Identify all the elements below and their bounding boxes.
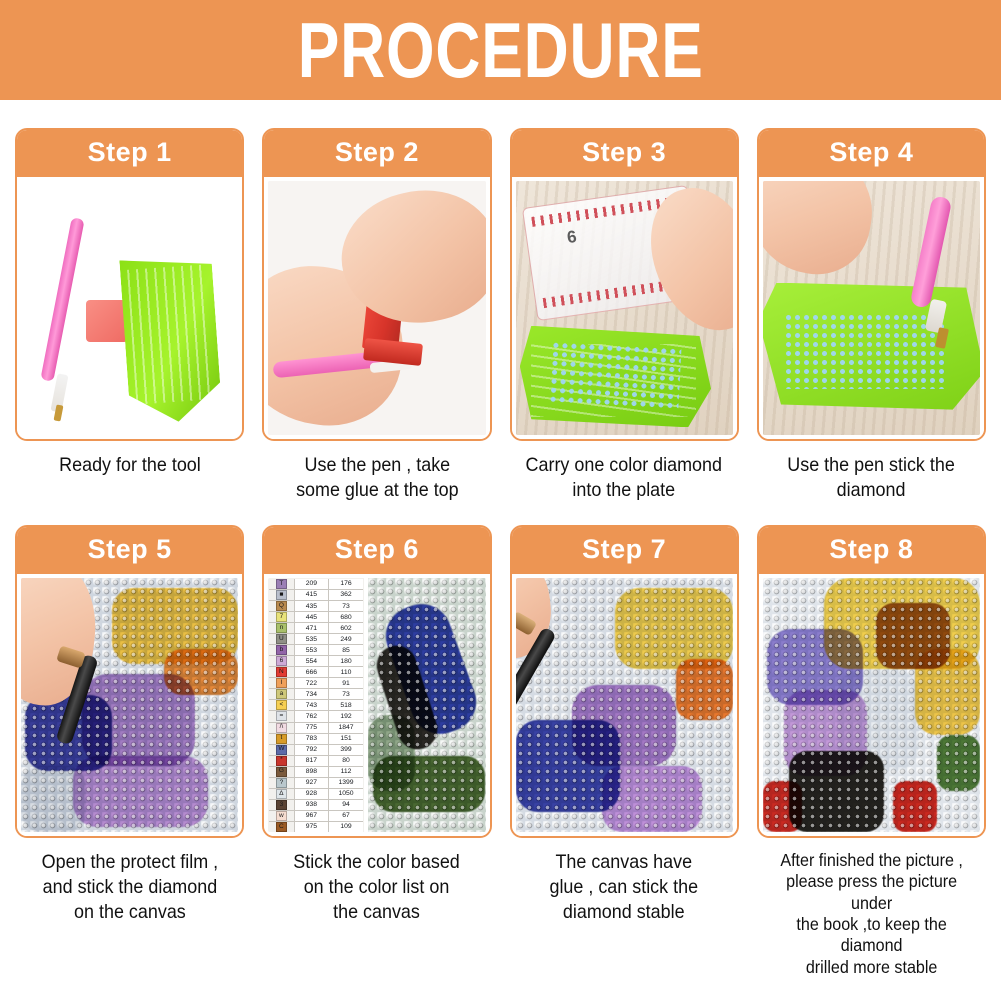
color-code-cell: 898 bbox=[295, 767, 330, 777]
color-list-row: 6554180 bbox=[269, 656, 363, 667]
mosaic-region-lilac bbox=[602, 766, 702, 832]
color-symbol-swatch: b bbox=[276, 645, 287, 655]
step-5-photo bbox=[21, 578, 238, 832]
color-symbol-cell: < bbox=[269, 700, 294, 710]
color-code-cell: 209 bbox=[295, 579, 330, 589]
step-1-body bbox=[17, 177, 242, 439]
mosaic-region-red bbox=[763, 781, 802, 832]
step-8-header: Step 8 bbox=[759, 527, 984, 574]
step-4-body bbox=[759, 177, 984, 439]
color-count-cell: 1399 bbox=[329, 778, 363, 788]
color-symbol-cell: a bbox=[269, 689, 294, 699]
color-symbol-cell: T bbox=[269, 579, 294, 589]
color-code-cell: 554 bbox=[295, 656, 330, 666]
color-symbol-swatch: /\ bbox=[276, 723, 287, 733]
step-4-card: Step 4 bbox=[757, 128, 986, 441]
color-code-cell: 435 bbox=[295, 601, 330, 611]
color-symbol-swatch: 7 bbox=[276, 612, 287, 622]
color-code-cell: 734 bbox=[295, 689, 330, 699]
color-list-row: 7445680 bbox=[269, 612, 363, 623]
color-count-cell: 249 bbox=[329, 634, 363, 644]
color-code-cell: 967 bbox=[295, 811, 330, 821]
color-count-cell: 192 bbox=[329, 711, 363, 721]
color-count-cell: 73 bbox=[329, 689, 363, 699]
mosaic-region-yellow-right bbox=[915, 649, 980, 735]
color-symbol-swatch: = bbox=[276, 711, 287, 721]
color-symbol-swatch: * bbox=[276, 756, 287, 766]
step-7-body bbox=[512, 574, 737, 836]
steps-row-2: Step 5 bbox=[0, 503, 1001, 978]
color-count-cell: 176 bbox=[329, 579, 363, 589]
mosaic-region-dark-foliage bbox=[789, 751, 885, 832]
color-symbol-swatch: w bbox=[276, 811, 287, 821]
color-list-row: ∆9281050 bbox=[269, 789, 363, 800]
color-symbol-cell: Q bbox=[269, 601, 294, 611]
step-6-body: T209176■415362Q435737445680n471602U53524… bbox=[264, 574, 489, 836]
step-3-card: Step 3 6 bbox=[510, 128, 739, 441]
color-count-cell: 91 bbox=[329, 678, 363, 688]
color-symbol-cell: N bbox=[269, 667, 294, 677]
step-card-6: Step 6 T209176■415362Q435737445680n47160… bbox=[262, 525, 491, 978]
step-2-caption: Use the pen , take some glue at the top bbox=[294, 441, 460, 503]
color-list-row: U535249 bbox=[269, 634, 363, 645]
color-list-row: /\7751847 bbox=[269, 723, 363, 734]
step-7-card: Step 7 bbox=[510, 525, 739, 838]
color-symbol-swatch: N bbox=[276, 667, 287, 677]
color-count-cell: 94 bbox=[329, 800, 363, 810]
color-symbol-cell: = bbox=[269, 711, 294, 721]
color-code-cell: 415 bbox=[295, 590, 330, 600]
color-list-row: ■415362 bbox=[269, 590, 363, 601]
mosaic-canvas bbox=[368, 578, 486, 832]
mosaic-region-green bbox=[937, 735, 980, 791]
color-symbol-swatch: T bbox=[276, 579, 287, 589]
color-symbol-cell: /\ bbox=[269, 723, 294, 733]
color-count-cell: 399 bbox=[329, 745, 363, 755]
step-5-body bbox=[17, 574, 242, 836]
step-2-header: Step 2 bbox=[264, 130, 489, 177]
color-list-row: w96767 bbox=[269, 811, 363, 822]
color-symbol-cell: 6 bbox=[269, 656, 294, 666]
color-code-cell: 927 bbox=[295, 778, 330, 788]
step-4-header: Step 4 bbox=[759, 130, 984, 177]
step-6-header: Step 6 bbox=[264, 527, 489, 574]
color-code-cell: 975 bbox=[295, 822, 330, 832]
step-card-5: Step 5 bbox=[15, 525, 244, 978]
color-list-row: N666110 bbox=[269, 667, 363, 678]
color-count-cell: 362 bbox=[329, 590, 363, 600]
color-count-cell: 602 bbox=[329, 623, 363, 633]
color-count-cell: 180 bbox=[329, 656, 363, 666]
step-1-caption: Ready for the tool bbox=[57, 441, 202, 478]
step-2-photo bbox=[268, 181, 485, 435]
color-symbol-swatch: G bbox=[276, 767, 287, 777]
color-symbol-swatch: I bbox=[276, 678, 287, 688]
color-code-cell: 445 bbox=[295, 612, 330, 622]
step-3-header: Step 3 bbox=[512, 130, 737, 177]
color-list-row: I72291 bbox=[269, 678, 363, 689]
step-6-card: Step 6 T209176■415362Q435737445680n47160… bbox=[262, 525, 491, 838]
color-symbol-swatch: U bbox=[276, 634, 287, 644]
color-count-cell: 67 bbox=[329, 811, 363, 821]
step-card-2: Step 2 Use the pen , take some glue at t… bbox=[262, 128, 491, 503]
color-list-row: *81780 bbox=[269, 756, 363, 767]
color-count-cell: 680 bbox=[329, 612, 363, 622]
mosaic-region-red-right bbox=[893, 781, 936, 832]
color-code-cell: 553 bbox=[295, 645, 330, 655]
step-5-header: Step 5 bbox=[17, 527, 242, 574]
color-code-cell: 792 bbox=[295, 745, 330, 755]
color-symbol-swatch: t bbox=[276, 734, 287, 744]
color-list-row: t783151 bbox=[269, 734, 363, 745]
color-symbol-swatch: n bbox=[276, 623, 287, 633]
color-count-cell: 80 bbox=[329, 756, 363, 766]
color-symbol-swatch: ∆ bbox=[276, 789, 287, 799]
page-header: PROCEDURE bbox=[0, 0, 1001, 100]
step-card-3: Step 3 6 Carry one color bbox=[510, 128, 739, 503]
step-6-photo: T209176■415362Q435737445680n471602U53524… bbox=[268, 578, 485, 832]
color-list-row: b55385 bbox=[269, 645, 363, 656]
color-symbol-swatch: W bbox=[276, 745, 287, 755]
step-8-body bbox=[759, 574, 984, 836]
color-list-row: W792399 bbox=[269, 745, 363, 756]
color-list-row: G898112 bbox=[269, 767, 363, 778]
color-count-cell: 1847 bbox=[329, 723, 363, 733]
color-count-cell: 1050 bbox=[329, 789, 363, 799]
color-code-cell: 666 bbox=[295, 667, 330, 677]
step-card-4: Step 4 Use the pen stick the diamond bbox=[757, 128, 986, 503]
color-code-cell: 535 bbox=[295, 634, 330, 644]
step-4-photo bbox=[763, 181, 980, 435]
color-symbol-cell: ? bbox=[269, 778, 294, 788]
step-card-8: Step 8 bbox=[757, 525, 986, 978]
step-3-photo: 6 bbox=[516, 181, 733, 435]
color-symbol-swatch: 3 bbox=[276, 800, 287, 810]
step-2-body bbox=[264, 177, 489, 439]
color-symbol-swatch: ■ bbox=[276, 590, 287, 600]
color-count-cell: 151 bbox=[329, 734, 363, 744]
step-3-body: 6 bbox=[512, 177, 737, 439]
step-1-card: Step 1 bbox=[15, 128, 244, 441]
color-symbol-swatch: 6 bbox=[276, 656, 287, 666]
color-code-cell: 938 bbox=[295, 800, 330, 810]
step-3-caption: Carry one color diamond into the plate bbox=[524, 441, 724, 503]
step-7-caption: The canvas have glue , can stick the dia… bbox=[548, 838, 700, 925]
color-list-row: a73473 bbox=[269, 689, 363, 700]
step-8-photo bbox=[763, 578, 980, 832]
wax-square-icon bbox=[86, 300, 128, 342]
mosaic-region-lilac bbox=[73, 756, 208, 827]
color-count-cell: 110 bbox=[329, 667, 363, 677]
color-count-cell: 518 bbox=[329, 700, 363, 710]
procedure-page: PROCEDURE Step 1 Ready for the tool bbox=[0, 0, 1001, 1001]
pink-pen-icon bbox=[40, 217, 84, 382]
step-2-card: Step 2 bbox=[262, 128, 491, 441]
color-list-row: <743518 bbox=[269, 700, 363, 711]
color-symbol-cell: n bbox=[269, 623, 294, 633]
step-4-caption: Use the pen stick the diamond bbox=[786, 441, 957, 503]
color-list-and-canvas: T209176■415362Q435737445680n471602U53524… bbox=[268, 578, 485, 832]
color-list-row: 393894 bbox=[269, 800, 363, 811]
bag-number-label: 6 bbox=[565, 227, 577, 248]
color-code-cell: 471 bbox=[295, 623, 330, 633]
step-5-card: Step 5 bbox=[15, 525, 244, 838]
color-code-cell: 762 bbox=[295, 711, 330, 721]
color-symbol-cell: W bbox=[269, 745, 294, 755]
color-list-row: Q43573 bbox=[269, 601, 363, 612]
color-symbol-cell: I bbox=[269, 678, 294, 688]
color-symbol-cell: ∆ bbox=[269, 789, 294, 799]
mosaic-region-sage bbox=[368, 715, 415, 791]
mosaic-region-yellow bbox=[615, 588, 732, 669]
color-list-row: n471602 bbox=[269, 623, 363, 634]
color-symbol-cell: w bbox=[269, 811, 294, 821]
color-symbol-swatch: ? bbox=[276, 778, 287, 788]
color-symbol-cell: b bbox=[269, 645, 294, 655]
step-1-header: Step 1 bbox=[17, 130, 242, 177]
page-title: PROCEDURE bbox=[298, 11, 704, 89]
steps-row-1: Step 1 Ready for the tool Step 2 bbox=[0, 100, 1001, 503]
color-symbol-cell: 3 bbox=[269, 800, 294, 810]
mosaic-region-orange bbox=[676, 659, 732, 720]
color-symbol-swatch: < bbox=[276, 700, 287, 710]
blue-diamonds bbox=[784, 313, 945, 389]
step-8-card: Step 8 bbox=[757, 525, 986, 838]
step-5-caption: Open the protect film , and stick the di… bbox=[40, 838, 220, 925]
color-list-table: T209176■415362Q435737445680n471602U53524… bbox=[268, 578, 364, 832]
step-7-header: Step 7 bbox=[512, 527, 737, 574]
step-6-caption: Stick the color based on the color list … bbox=[292, 838, 462, 925]
color-code-cell: 722 bbox=[295, 678, 330, 688]
step-card-7: Step 7 The canvas bbox=[510, 525, 739, 978]
blue-diamonds bbox=[549, 340, 682, 408]
step-8-caption: After finished the picture , please pres… bbox=[766, 838, 977, 978]
color-code-cell: 775 bbox=[295, 723, 330, 733]
color-list-row: T209176 bbox=[269, 579, 363, 590]
color-symbol-cell: t bbox=[269, 734, 294, 744]
step-7-photo bbox=[516, 578, 733, 832]
color-count-cell: 73 bbox=[329, 601, 363, 611]
color-list-row: =762192 bbox=[269, 711, 363, 722]
color-code-cell: 928 bbox=[295, 789, 330, 799]
color-count-cell: 112 bbox=[329, 767, 363, 777]
color-count-cell: 109 bbox=[329, 822, 363, 832]
color-symbol-cell: 7 bbox=[269, 612, 294, 622]
color-symbol-swatch: Q bbox=[276, 601, 287, 611]
color-list-row: C975109 bbox=[269, 822, 363, 832]
color-list-row: ?9271399 bbox=[269, 778, 363, 789]
color-symbol-cell: G bbox=[269, 767, 294, 777]
color-symbol-swatch: a bbox=[276, 689, 287, 699]
color-code-cell: 783 bbox=[295, 734, 330, 744]
color-code-cell: 817 bbox=[295, 756, 330, 766]
color-symbol-cell: U bbox=[269, 634, 294, 644]
step-card-1: Step 1 Ready for the tool bbox=[15, 128, 244, 503]
step-1-photo bbox=[21, 181, 238, 435]
color-symbol-cell: ■ bbox=[269, 590, 294, 600]
color-symbol-cell: C bbox=[269, 822, 294, 832]
color-symbol-cell: * bbox=[269, 756, 294, 766]
color-symbol-swatch: C bbox=[276, 822, 287, 832]
color-code-cell: 743 bbox=[295, 700, 330, 710]
mosaic-region-white bbox=[21, 766, 86, 832]
color-count-cell: 85 bbox=[329, 645, 363, 655]
green-tray-icon bbox=[120, 254, 223, 425]
